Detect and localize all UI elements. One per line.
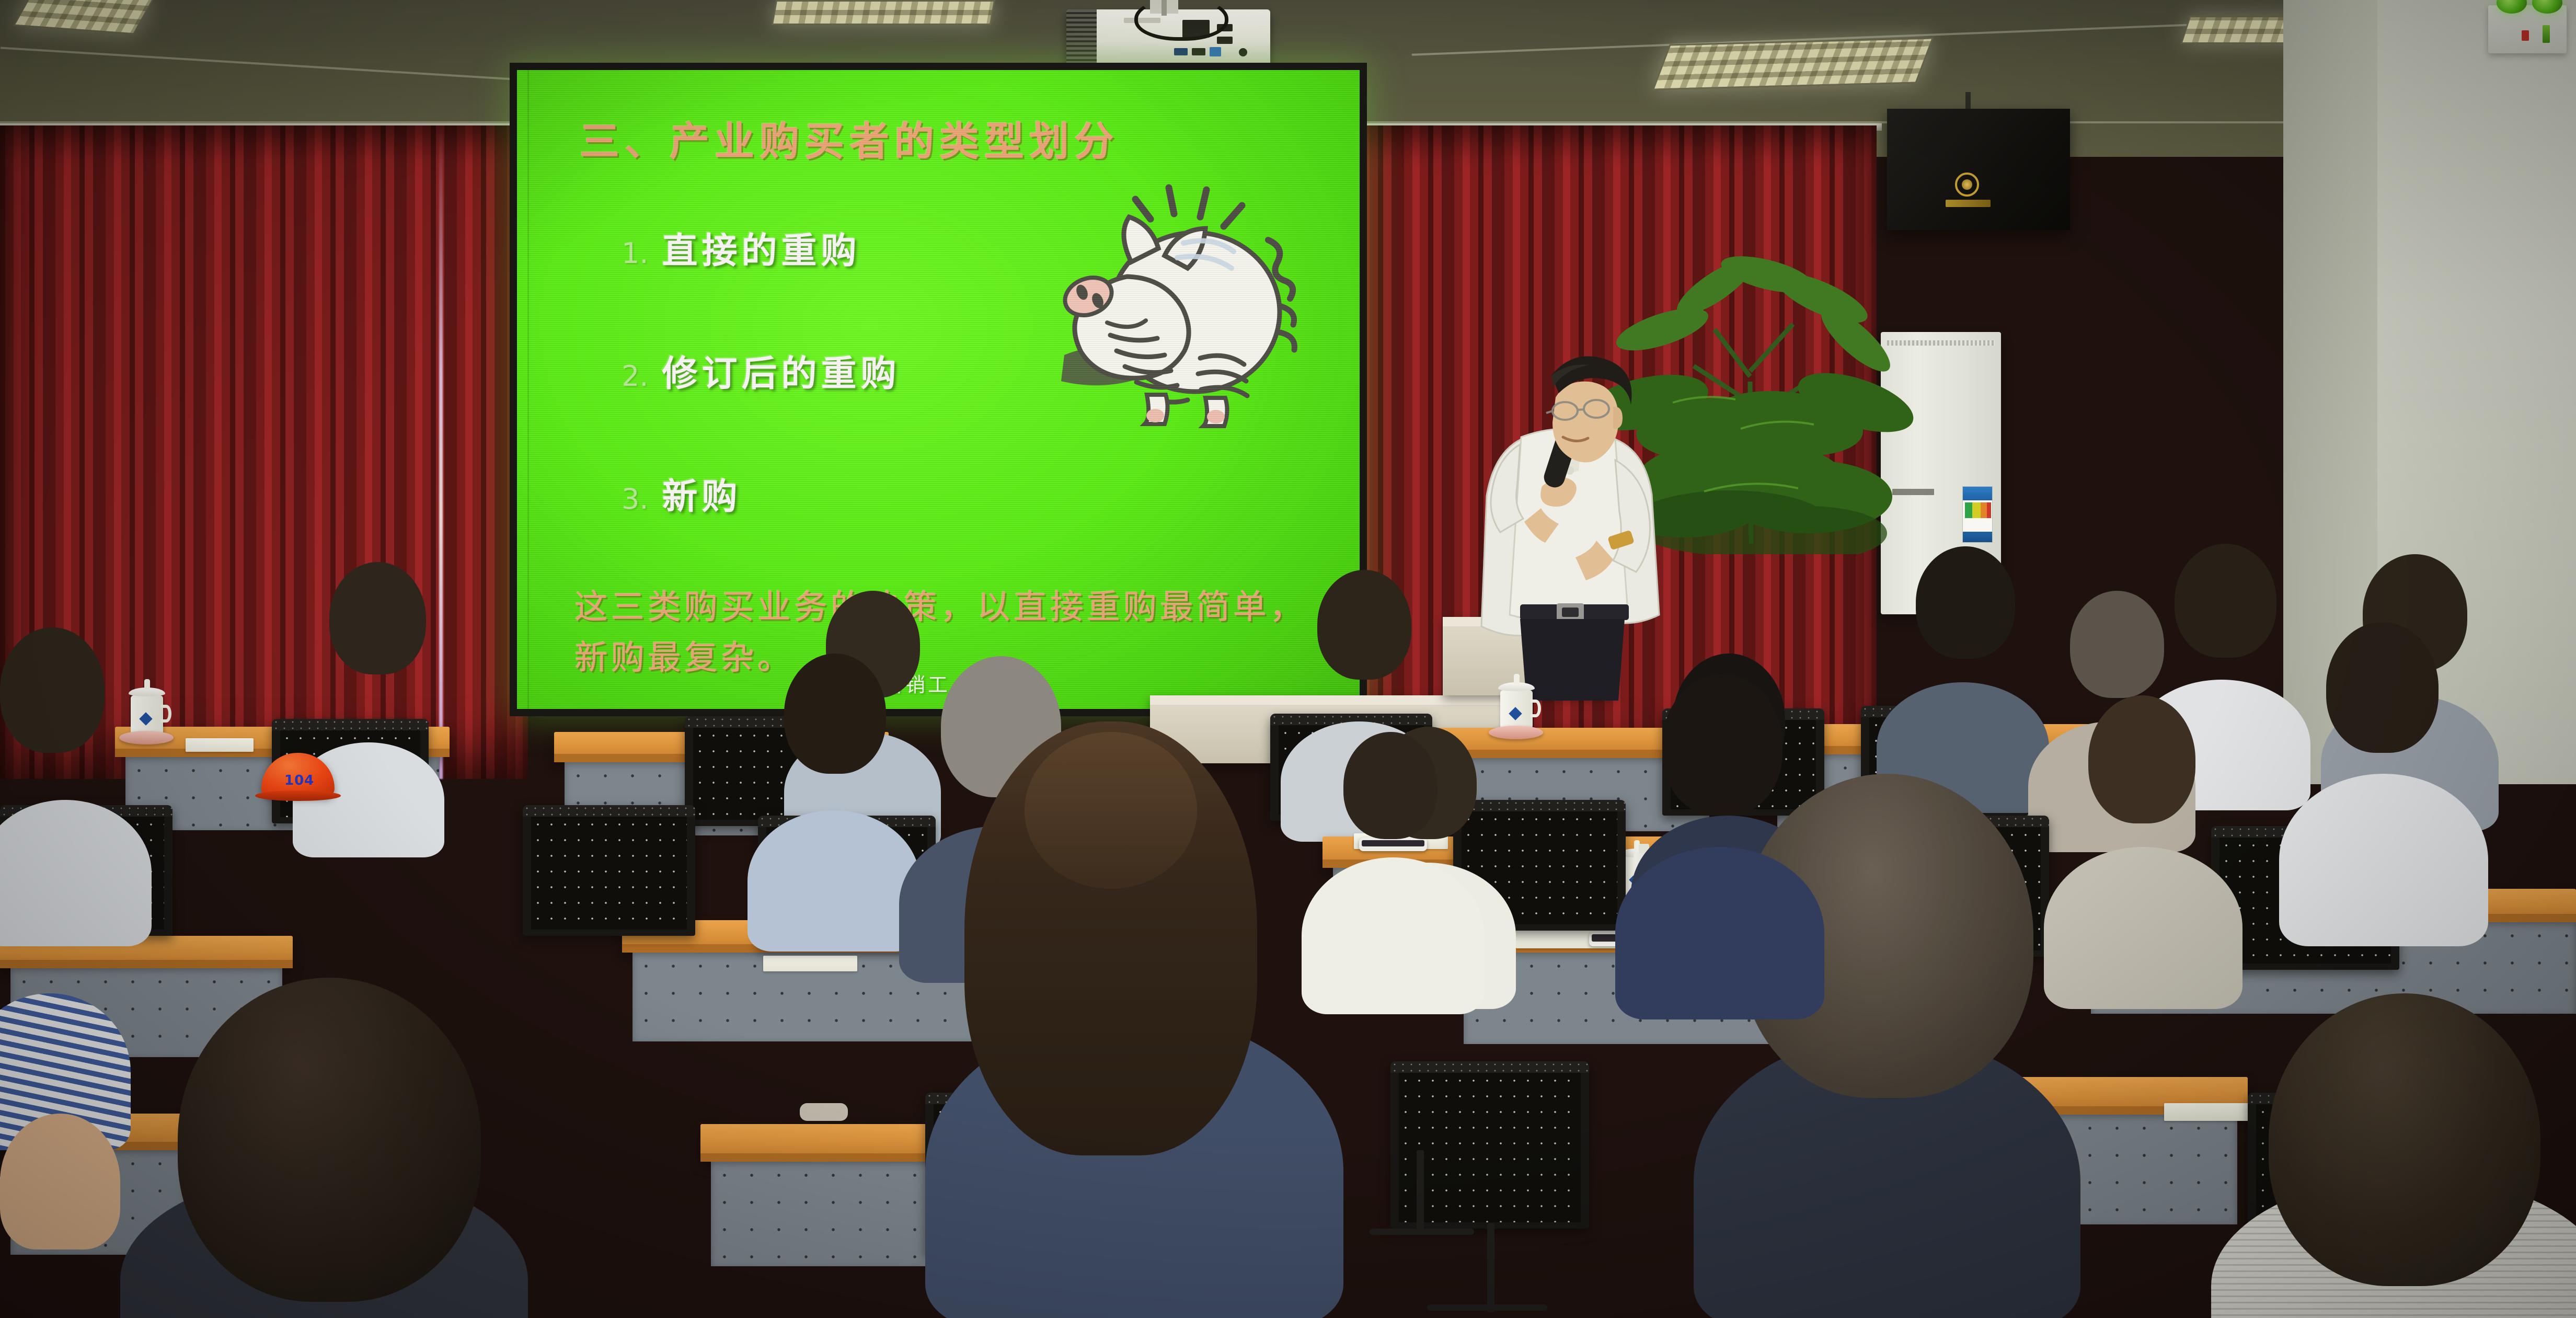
curtain-light-gap	[439, 125, 443, 779]
key-pouch	[800, 1103, 848, 1121]
attendee-torso	[2279, 774, 2488, 946]
mug-logo-icon	[139, 712, 152, 725]
label-header	[1963, 487, 1992, 500]
attendee-torso	[1302, 857, 1485, 1014]
attendee-torso	[2044, 847, 2242, 1009]
smartphone	[1359, 838, 1427, 851]
chair	[523, 805, 695, 936]
projector-vent	[1066, 9, 1097, 67]
chair-mesh-back	[531, 817, 687, 930]
mug-knob	[1514, 674, 1520, 684]
cartoon-pig-illustration	[1043, 182, 1305, 428]
emergency-exit-light	[2488, 5, 2567, 53]
attendee-head	[1025, 732, 1197, 889]
attendee-head	[1343, 732, 1437, 839]
attendee-head	[2326, 622, 2439, 753]
slide-bullet-1: 1. 直接的重购	[622, 222, 861, 273]
speaker-logo-icon	[1955, 173, 1979, 197]
mug-knob	[144, 679, 150, 690]
bullet-text: 修订后的重购	[662, 345, 901, 396]
bullet-text: 直接的重购	[662, 222, 861, 273]
saucer	[1489, 726, 1543, 739]
energy-efficiency-label	[1962, 486, 1993, 543]
hardhat-number: 104	[284, 773, 314, 788]
tea-mug	[1500, 690, 1533, 731]
mug-handle	[161, 705, 171, 723]
projector-port	[1192, 48, 1205, 55]
attendee-head	[2070, 591, 2164, 698]
chair-top-rail	[523, 805, 695, 817]
saucer	[119, 731, 174, 744]
screen-seam	[527, 70, 529, 709]
notebook	[186, 738, 254, 752]
attendee-head	[1916, 546, 2015, 659]
projected-slide: 三、产业购买者的类型划分 1. 直接的重购 2. 修订后的重购 3. 新购 这三…	[517, 70, 1360, 709]
table-top	[1150, 695, 1505, 705]
chair-top-rail	[1453, 800, 1626, 811]
projector-cable	[1134, 0, 1228, 41]
slide-bullet-2: 2. 修订后的重购	[622, 345, 901, 396]
attendee-head	[1317, 570, 1411, 680]
mug-handle	[1531, 700, 1541, 717]
chair-base	[1427, 1304, 1547, 1311]
attendee-head	[2088, 695, 2195, 823]
attendee-head	[2269, 993, 2540, 1286]
speaker-bracket	[1965, 92, 1971, 110]
tea-mug	[131, 695, 163, 736]
exit-lamp-icon	[2497, 0, 2527, 14]
exit-status-led	[2543, 25, 2550, 43]
projector-port	[1217, 37, 1233, 44]
label-footer	[1963, 532, 1992, 542]
slide-paragraph: 这三类购买业务的决策，以直接重购最简单，新购最复杂。	[574, 582, 1338, 684]
attendee-torso	[747, 810, 920, 952]
exit-lamp-icon	[2532, 0, 2562, 14]
chair-mesh-back	[1399, 1073, 1581, 1222]
label-grades	[1965, 502, 1991, 518]
exit-status-led	[2522, 30, 2529, 41]
attendee-head	[329, 562, 426, 674]
desk-edge	[0, 960, 293, 968]
chair-leg	[1417, 1150, 1424, 1234]
chair-base	[1370, 1229, 1474, 1235]
projector-port	[1174, 48, 1188, 55]
bullet-number: 1.	[622, 237, 649, 270]
attendee-torso	[1615, 847, 1824, 1019]
phone-screen	[1362, 840, 1424, 846]
bullet-number: 3.	[622, 483, 649, 515]
slide-title: 三、产业购买者的类型划分	[580, 109, 1119, 167]
bullet-number: 2.	[622, 360, 649, 393]
hardhat-brim	[255, 790, 341, 801]
projector-port	[1239, 48, 1247, 56]
attendee-head	[784, 654, 886, 774]
chair-leg	[1487, 1223, 1494, 1312]
classroom-photograph: 三、产业购买者的类型划分 1. 直接的重购 2. 修订后的重购 3. 新购 这三…	[0, 0, 2576, 1318]
chair-top-rail	[1390, 1061, 1589, 1073]
attendee-head	[0, 627, 105, 753]
mug-logo-icon	[1509, 707, 1522, 720]
ceiling-light-panel	[772, 0, 995, 25]
attendee-head	[1662, 674, 1782, 816]
attendee-head	[178, 978, 481, 1302]
attendee-arm	[0, 1114, 120, 1250]
attendee-head	[2175, 544, 2276, 658]
chair-top-rail	[272, 719, 429, 730]
projector-port	[1210, 47, 1221, 56]
projection-screen: 三、产业购买者的类型划分 1. 直接的重购 2. 修订后的重购 3. 新购 这三…	[510, 63, 1367, 716]
speaker-brand-mark	[1946, 200, 1991, 207]
presenter	[1458, 314, 1678, 701]
bullet-text: 新购	[662, 467, 742, 519]
ceiling-light-panel	[1652, 37, 1934, 90]
notebook	[763, 956, 857, 971]
slide-bullet-3: 3. 新购	[622, 467, 742, 519]
